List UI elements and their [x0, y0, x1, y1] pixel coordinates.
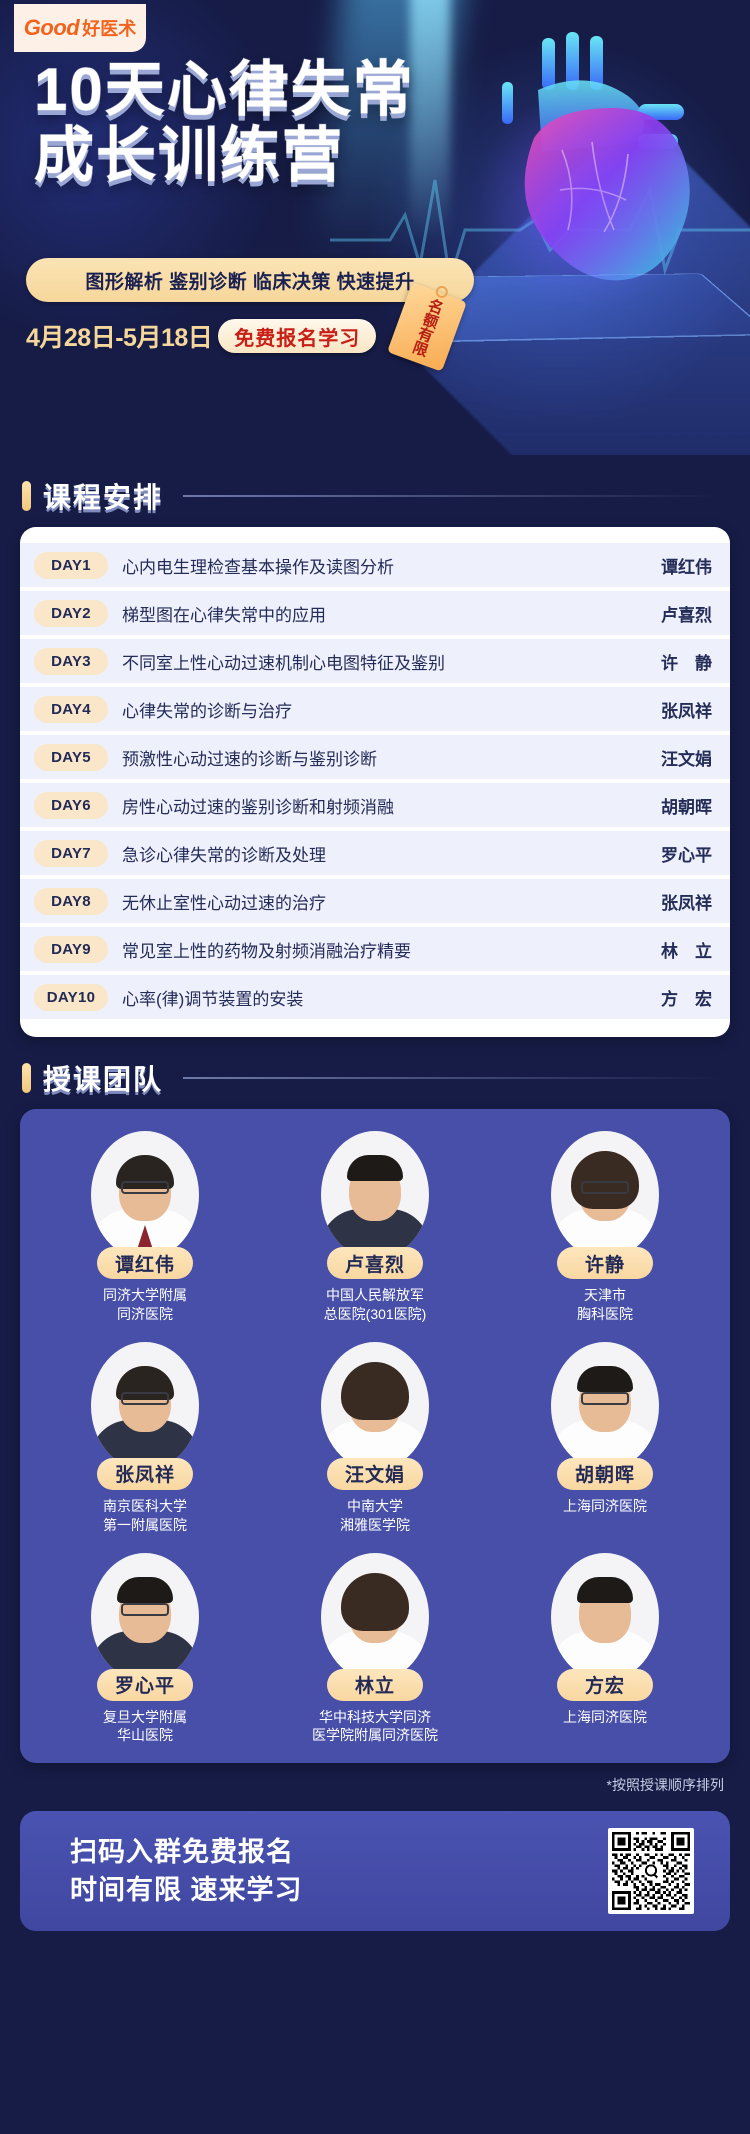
course-lecturer: 罗心平 — [620, 841, 712, 866]
schedule-card: DAY1 心内电生理检查基本操作及读图分析 谭红伟 DAY2 梯型图在心律失常中… — [20, 527, 730, 1037]
table-row[interactable]: DAY8 无休止室性心动过速的治疗 张凤祥 — [20, 879, 730, 923]
list-item[interactable]: 卢喜烈 中国人民解放军 总医院(301医院) — [275, 1131, 475, 1324]
member-affiliation: 中南大学 湘雅医学院 — [340, 1497, 410, 1535]
table-row[interactable]: DAY3 不同室上性心动过速机制心电图特征及鉴别 许 静 — [20, 639, 730, 683]
table-row[interactable]: DAY5 预激性心动过速的诊断与鉴别诊断 汪文娟 — [20, 735, 730, 779]
member-affiliation: 中国人民解放军 总医院(301医院) — [324, 1286, 427, 1324]
list-item[interactable]: 许静 天津市 胸科医院 — [505, 1131, 705, 1324]
course-topic: 无休止室性心动过速的治疗 — [122, 889, 620, 914]
avatar — [91, 1131, 199, 1259]
day-badge: DAY6 — [34, 792, 108, 819]
course-lecturer: 许 静 — [620, 649, 712, 674]
avatar — [321, 1553, 429, 1681]
schedule-section-header: 课程安排 — [22, 471, 750, 521]
team-row: 谭红伟 同济大学附属 同济医院 卢喜烈 中国人民解放军 总医院(301医院) 许… — [30, 1131, 720, 1324]
list-item[interactable]: 汪文娟 中南大学 湘雅医学院 — [275, 1342, 475, 1535]
list-item[interactable]: 罗心平 复旦大学附属 华山医院 — [45, 1553, 245, 1746]
course-topic: 心率(律)调节装置的安装 — [122, 985, 620, 1010]
list-item[interactable]: 方宏 上海同济医院 — [505, 1553, 705, 1746]
course-topic: 梯型图在心律失常中的应用 — [122, 601, 620, 626]
member-name: 汪文娟 — [327, 1458, 423, 1490]
course-topic: 房性心动过速的鉴别诊断和射频消融 — [122, 793, 620, 818]
member-name: 张凤祥 — [97, 1458, 193, 1490]
avatar — [321, 1342, 429, 1470]
course-lecturer: 谭红伟 — [620, 553, 712, 578]
member-affiliation: 南京医科大学 第一附属医院 — [103, 1497, 187, 1535]
hero-title-line2: 成长训练营 — [34, 124, 554, 188]
avatar — [321, 1131, 429, 1259]
day-badge: DAY9 — [34, 936, 108, 963]
team-card: 谭红伟 同济大学附属 同济医院 卢喜烈 中国人民解放军 总医院(301医院) 许… — [20, 1109, 730, 1763]
member-name: 方宏 — [557, 1669, 653, 1701]
day-badge: DAY3 — [34, 648, 108, 675]
day-badge: DAY7 — [34, 840, 108, 867]
section-divider-line — [183, 1077, 722, 1079]
event-date-range: 4月28日-5月18日 — [26, 318, 212, 354]
member-name: 谭红伟 — [97, 1247, 193, 1279]
course-topic: 心内电生理检查基本操作及读图分析 — [122, 553, 620, 578]
section-divider-line — [183, 495, 722, 497]
footer-line1: 扫码入群免费报名 — [70, 1833, 303, 1871]
avatar — [551, 1553, 659, 1681]
team-section-title: 授课团队 — [43, 1058, 163, 1098]
course-lecturer: 胡朝晖 — [620, 793, 712, 818]
table-row[interactable]: DAY6 房性心动过速的鉴别诊断和射频消融 胡朝晖 — [20, 783, 730, 827]
day-badge: DAY8 — [34, 888, 108, 915]
table-row[interactable]: DAY1 心内电生理检查基本操作及读图分析 谭红伟 — [20, 543, 730, 587]
avatar — [91, 1553, 199, 1681]
course-lecturer: 张凤祥 — [620, 697, 712, 722]
team-footnote: *按照授课顺序排列 — [0, 1775, 724, 1795]
course-topic: 不同室上性心动过速机制心电图特征及鉴别 — [122, 649, 620, 674]
course-lecturer: 张凤祥 — [620, 889, 712, 914]
table-row[interactable]: DAY9 常见室上性的药物及射频消融治疗精要 林 立 — [20, 927, 730, 971]
schedule-section-title: 课程安排 — [43, 476, 163, 516]
table-row[interactable]: DAY10 心率(律)调节装置的安装 方 宏 — [20, 975, 730, 1019]
logo-text-en: Good — [24, 15, 79, 41]
table-row[interactable]: DAY2 梯型图在心律失常中的应用 卢喜烈 — [20, 591, 730, 635]
day-badge: DAY5 — [34, 744, 108, 771]
page-title: 10天心律失常 成长训练营 — [34, 58, 554, 187]
day-badge: DAY4 — [34, 696, 108, 723]
course-topic: 急诊心律失常的诊断及处理 — [122, 841, 620, 866]
day-badge: DAY1 — [34, 552, 108, 579]
avatar — [551, 1131, 659, 1259]
member-name: 林立 — [327, 1669, 423, 1701]
course-lecturer: 卢喜烈 — [620, 601, 712, 626]
logo-text-cn: 好医术 — [82, 15, 136, 41]
brand-logo: Good 好医术 — [14, 4, 146, 52]
table-row[interactable]: DAY4 心律失常的诊断与治疗 张凤祥 — [20, 687, 730, 731]
footer-line2: 时间有限 速来学习 — [70, 1871, 303, 1909]
list-item[interactable]: 谭红伟 同济大学附属 同济医院 — [45, 1131, 245, 1324]
hero-banner: Good 好医术 10天心律失常 成长训练营 图形解析 鉴别诊断 临床决策 快速… — [0, 0, 750, 455]
team-row: 张凤祥 南京医科大学 第一附属医院 汪文娟 中南大学 湘雅医学院 胡朝晖 — [30, 1342, 720, 1535]
course-topic: 预激性心动过速的诊断与鉴别诊断 — [122, 745, 620, 770]
hero-title-line1: 10天心律失常 — [34, 58, 554, 122]
list-item[interactable]: 林立 华中科技大学同济 医学院附属同济医院 — [275, 1553, 475, 1746]
day-badge: DAY10 — [34, 984, 108, 1011]
section-accent-bar — [22, 481, 31, 511]
day-badge: DAY2 — [34, 600, 108, 627]
footer-cta-text: 扫码入群免费报名 时间有限 速来学习 — [70, 1833, 303, 1910]
register-button[interactable]: 免费报名学习 — [218, 319, 376, 353]
date-and-cta-row: 4月28日-5月18日 免费报名学习 — [26, 318, 376, 354]
team-row: 罗心平 复旦大学附属 华山医院 林立 华中科技大学同济 医学院附属同济医院 方宏 — [30, 1553, 720, 1746]
member-name: 胡朝晖 — [557, 1458, 653, 1490]
qr-footer: 扫码入群免费报名 时间有限 速来学习 — [20, 1811, 730, 1931]
member-affiliation: 华中科技大学同济 医学院附属同济医院 — [312, 1708, 438, 1746]
avatar — [91, 1342, 199, 1470]
member-affiliation: 上海同济医院 — [563, 1708, 647, 1727]
course-lecturer: 方 宏 — [620, 985, 712, 1010]
course-topic: 常见室上性的药物及射频消融治疗精要 — [122, 937, 620, 962]
member-affiliation: 天津市 胸科医院 — [577, 1286, 633, 1324]
table-row[interactable]: DAY7 急诊心律失常的诊断及处理 罗心平 — [20, 831, 730, 875]
list-item[interactable]: 张凤祥 南京医科大学 第一附属医院 — [45, 1342, 245, 1535]
section-accent-bar — [22, 1063, 31, 1093]
team-section-header: 授课团队 — [22, 1053, 750, 1103]
avatar — [551, 1342, 659, 1470]
qr-code-icon[interactable] — [608, 1828, 694, 1914]
member-name: 罗心平 — [97, 1669, 193, 1701]
member-name: 许静 — [557, 1247, 653, 1279]
list-item[interactable]: 胡朝晖 上海同济医院 — [505, 1342, 705, 1535]
member-affiliation: 上海同济医院 — [563, 1497, 647, 1516]
member-affiliation: 同济大学附属 同济医院 — [103, 1286, 187, 1324]
course-lecturer: 汪文娟 — [620, 745, 712, 770]
course-topic: 心律失常的诊断与治疗 — [122, 697, 620, 722]
member-affiliation: 复旦大学附属 华山医院 — [103, 1708, 187, 1746]
member-name: 卢喜烈 — [327, 1247, 423, 1279]
course-lecturer: 林 立 — [620, 937, 712, 962]
